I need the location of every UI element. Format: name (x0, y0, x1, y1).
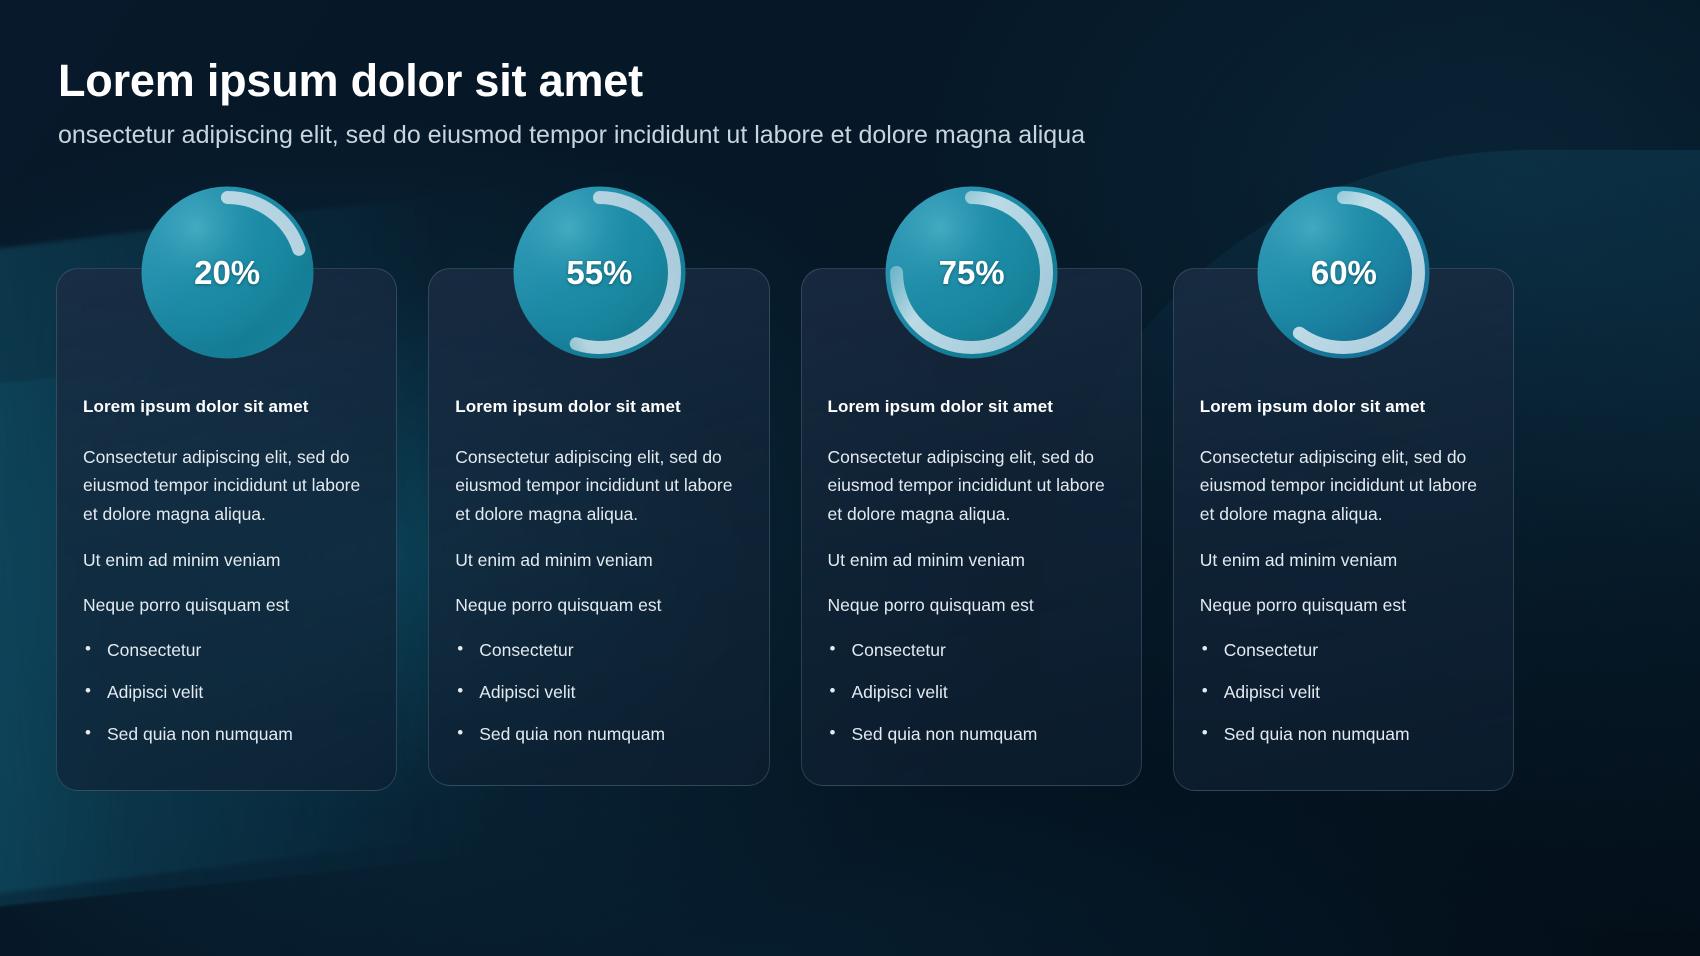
card-2[interactable]: 55% Lorem ipsum dolor sit amet Consectet… (428, 268, 769, 786)
gauge-3: 75% (884, 185, 1059, 360)
card-3-bullet-list: Consectetur Adipisci velit Sed quia non … (828, 640, 1115, 745)
gauge-3-sphere-highlight (886, 187, 1058, 359)
gauge-1: 20% (140, 185, 315, 360)
card-1-body: Consectetur adipiscing elit, sed do eius… (83, 443, 370, 528)
gauge-4: 60% (1256, 185, 1431, 360)
list-item: Adipisci velit (455, 682, 742, 703)
card-1-title: Lorem ipsum dolor sit amet (83, 397, 370, 417)
list-item: Consectetur (83, 640, 370, 661)
slide-canvas: Lorem ipsum dolor sit amet onsectetur ad… (0, 0, 1700, 956)
card-4-body: Consectetur adipiscing elit, sed do eius… (1200, 443, 1487, 528)
gauge-4-sphere-highlight (1258, 187, 1430, 359)
card-3-body: Consectetur adipiscing elit, sed do eius… (828, 443, 1115, 528)
card-3-line-2: Ut enim ad minim veniam (828, 550, 1115, 571)
slide-header: Lorem ipsum dolor sit amet onsectetur ad… (58, 56, 1085, 150)
gauge-3-svg (884, 185, 1059, 360)
list-item: Consectetur (1200, 640, 1487, 661)
list-item: Sed quia non numquam (83, 724, 370, 745)
list-item: Consectetur (828, 640, 1115, 661)
card-2-body: Consectetur adipiscing elit, sed do eius… (455, 443, 742, 528)
list-item: Adipisci velit (1200, 682, 1487, 703)
list-item: Consectetur (455, 640, 742, 661)
card-2-bullet-list: Consectetur Adipisci velit Sed quia non … (455, 640, 742, 745)
list-item: Adipisci velit (828, 682, 1115, 703)
card-1[interactable]: 20% Lorem ipsum dolor sit amet Consectet… (56, 268, 397, 791)
card-3-title: Lorem ipsum dolor sit amet (828, 397, 1115, 417)
gauge-2: 55% (512, 185, 687, 360)
card-4[interactable]: 60% Lorem ipsum dolor sit amet Consectet… (1173, 268, 1514, 791)
list-item: Adipisci velit (83, 682, 370, 703)
card-4-title: Lorem ipsum dolor sit amet (1200, 397, 1487, 417)
page-title: Lorem ipsum dolor sit amet (58, 56, 1085, 106)
card-2-title: Lorem ipsum dolor sit amet (455, 397, 742, 417)
card-1-bullet-list: Consectetur Adipisci velit Sed quia non … (83, 640, 370, 745)
card-4-line-2: Ut enim ad minim veniam (1200, 550, 1487, 571)
card-4-line-3: Neque porro quisquam est (1200, 595, 1487, 616)
card-1-line-3: Neque porro quisquam est (83, 595, 370, 616)
list-item: Sed quia non numquam (455, 724, 742, 745)
card-1-line-2: Ut enim ad minim veniam (83, 550, 370, 571)
gauge-4-svg (1256, 185, 1431, 360)
list-item: Sed quia non numquam (1200, 724, 1487, 745)
gauge-2-sphere-highlight (513, 187, 685, 359)
gauge-2-svg (512, 185, 687, 360)
card-3[interactable]: 75% Lorem ipsum dolor sit amet Consectet… (801, 268, 1142, 786)
gauge-1-sphere-highlight (141, 187, 313, 359)
card-3-line-3: Neque porro quisquam est (828, 595, 1115, 616)
page-subtitle: onsectetur adipiscing elit, sed do eiusm… (58, 120, 1085, 150)
card-2-line-2: Ut enim ad minim veniam (455, 550, 742, 571)
card-2-line-3: Neque porro quisquam est (455, 595, 742, 616)
list-item: Sed quia non numquam (828, 724, 1115, 745)
cards-row: 20% Lorem ipsum dolor sit amet Consectet… (56, 268, 1514, 791)
gauge-1-svg (140, 185, 315, 360)
card-4-bullet-list: Consectetur Adipisci velit Sed quia non … (1200, 640, 1487, 745)
